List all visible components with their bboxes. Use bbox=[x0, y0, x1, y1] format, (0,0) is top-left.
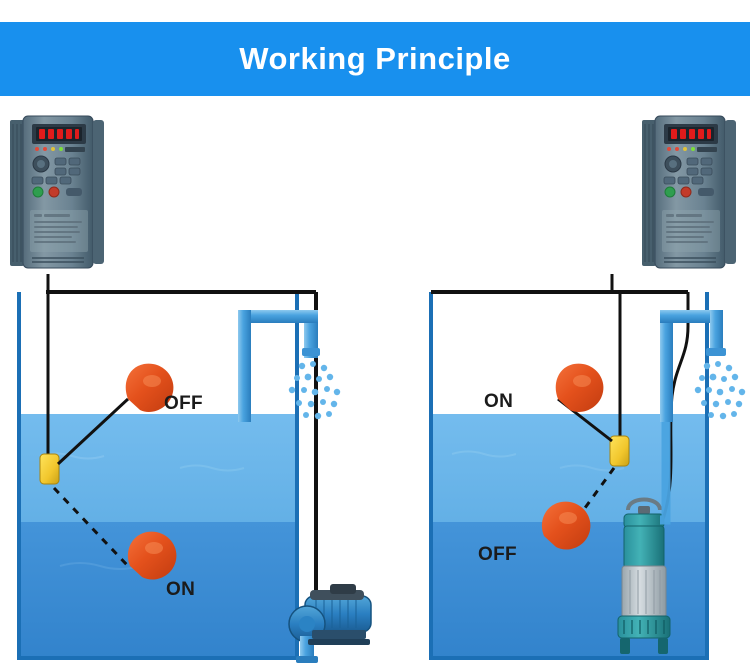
label-off-right-lower: OFF bbox=[478, 544, 517, 566]
page-title: Working Principle bbox=[239, 41, 510, 77]
pipe-nozzle bbox=[302, 348, 320, 356]
float-weight-right bbox=[610, 436, 629, 466]
diagram-stage: OFF ON ON OFF bbox=[0, 96, 750, 668]
vfd-unit-right bbox=[642, 114, 738, 274]
pipe-riser-right bbox=[660, 310, 673, 422]
float-switch-upper-right bbox=[556, 364, 604, 412]
page-header: Working Principle bbox=[0, 22, 750, 96]
label-off-left-upper: OFF bbox=[164, 393, 203, 415]
right-outlet-pipe bbox=[660, 310, 745, 422]
left-outlet-pipe bbox=[238, 310, 340, 422]
left-water-upper bbox=[19, 414, 297, 522]
page-root: Working Principle bbox=[0, 0, 750, 668]
pipe-nozzle-right bbox=[706, 348, 726, 356]
float-weight-left bbox=[40, 454, 59, 484]
left-tank-group bbox=[19, 292, 297, 658]
water-spray-right bbox=[695, 361, 745, 419]
label-on-right-upper: ON bbox=[484, 391, 513, 413]
label-on-left-lower: ON bbox=[166, 579, 195, 601]
working-principle-diagram bbox=[0, 96, 750, 668]
surface-pump-left bbox=[289, 584, 371, 663]
pipe-downspout bbox=[238, 310, 251, 422]
vfd-unit-left bbox=[10, 114, 106, 274]
